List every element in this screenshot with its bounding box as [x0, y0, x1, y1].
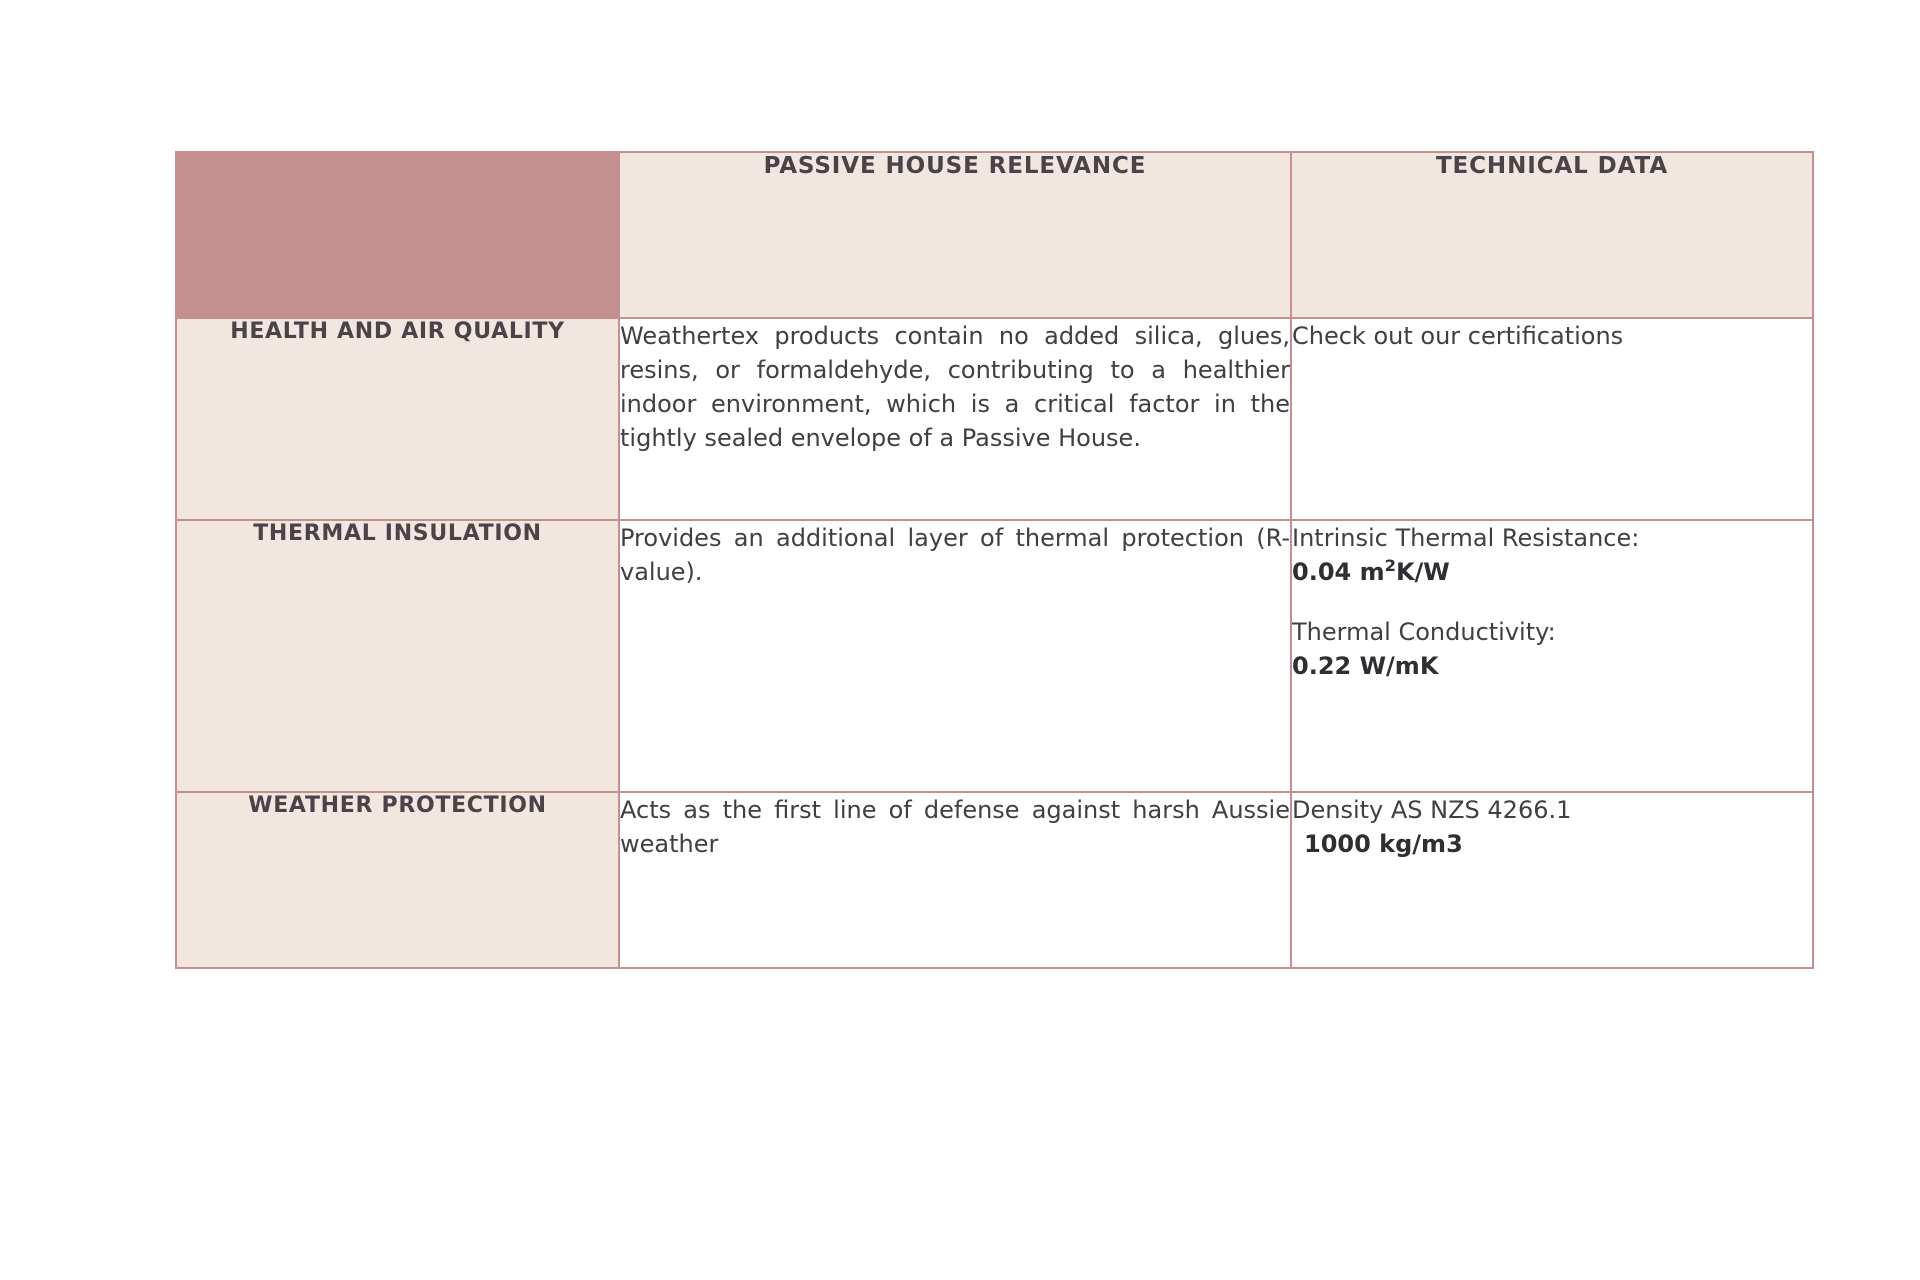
relevance-text-thermal: Provides an additional layer of thermal …	[620, 521, 1290, 589]
document-page: PASSIVE HOUSE RELEVANCE TECHNICAL DATA H…	[0, 0, 1920, 1280]
table-body: HEALTH AND AIR QUALITY Weathertex produc…	[176, 318, 1813, 968]
row-label-weather-protection: WEATHER PROTECTION	[176, 792, 619, 968]
table-row: HEALTH AND AIR QUALITY Weathertex produc…	[176, 318, 1813, 520]
cell-relevance-weather: Acts as the first line of defense agains…	[619, 792, 1291, 968]
technical-item-value: 0.22 W/mK	[1292, 649, 1812, 683]
technical-value-prefix: 0.04 m	[1292, 558, 1385, 586]
spec-table-container: PASSIVE HOUSE RELEVANCE TECHNICAL DATA H…	[175, 151, 1812, 969]
row-label-thermal-insulation: THERMAL INSULATION	[176, 520, 619, 792]
technical-item-density: Density AS NZS 4266.1 1000 kg/m3	[1292, 793, 1812, 861]
technical-value-superscript: 2	[1385, 556, 1396, 575]
cell-technical-weather: Density AS NZS 4266.1 1000 kg/m3	[1291, 792, 1813, 968]
technical-item-thermal-resistance: Intrinsic Thermal Resistance: 0.04 m2K/W	[1292, 521, 1812, 589]
passive-house-spec-table: PASSIVE HOUSE RELEVANCE TECHNICAL DATA H…	[175, 151, 1814, 969]
technical-value-suffix: K/W	[1396, 558, 1450, 586]
technical-item-label: Thermal Conductivity:	[1292, 615, 1812, 649]
column-header-passive-house-relevance: PASSIVE HOUSE RELEVANCE	[619, 152, 1291, 318]
cell-relevance-thermal: Provides an additional layer of thermal …	[619, 520, 1291, 792]
technical-item-label: Intrinsic Thermal Resistance:	[1292, 521, 1812, 555]
table-header: PASSIVE HOUSE RELEVANCE TECHNICAL DATA	[176, 152, 1813, 318]
row-label-health-and-air-quality: HEALTH AND AIR QUALITY	[176, 318, 619, 520]
technical-item-thermal-conductivity: Thermal Conductivity: 0.22 W/mK	[1292, 615, 1812, 683]
technical-item-value: 0.04 m2K/W	[1292, 555, 1812, 589]
cell-technical-thermal: Intrinsic Thermal Resistance: 0.04 m2K/W…	[1291, 520, 1813, 792]
header-row: PASSIVE HOUSE RELEVANCE TECHNICAL DATA	[176, 152, 1813, 318]
cell-technical-health: Check out our certifications	[1291, 318, 1813, 520]
relevance-text-health: Weathertex products contain no added sil…	[620, 319, 1290, 455]
table-row: THERMAL INSULATION Provides an additiona…	[176, 520, 1813, 792]
table-row: WEATHER PROTECTION Acts as the first lin…	[176, 792, 1813, 968]
technical-item-value: 1000 kg/m3	[1292, 827, 1812, 861]
technical-text-certifications: Check out our certifications	[1292, 319, 1812, 353]
cell-relevance-health: Weathertex products contain no added sil…	[619, 318, 1291, 520]
column-header-technical-data: TECHNICAL DATA	[1291, 152, 1813, 318]
relevance-text-weather: Acts as the first line of defense agains…	[620, 793, 1290, 861]
table-corner-cell	[176, 152, 619, 318]
technical-item-label: Density AS NZS 4266.1	[1292, 793, 1812, 827]
